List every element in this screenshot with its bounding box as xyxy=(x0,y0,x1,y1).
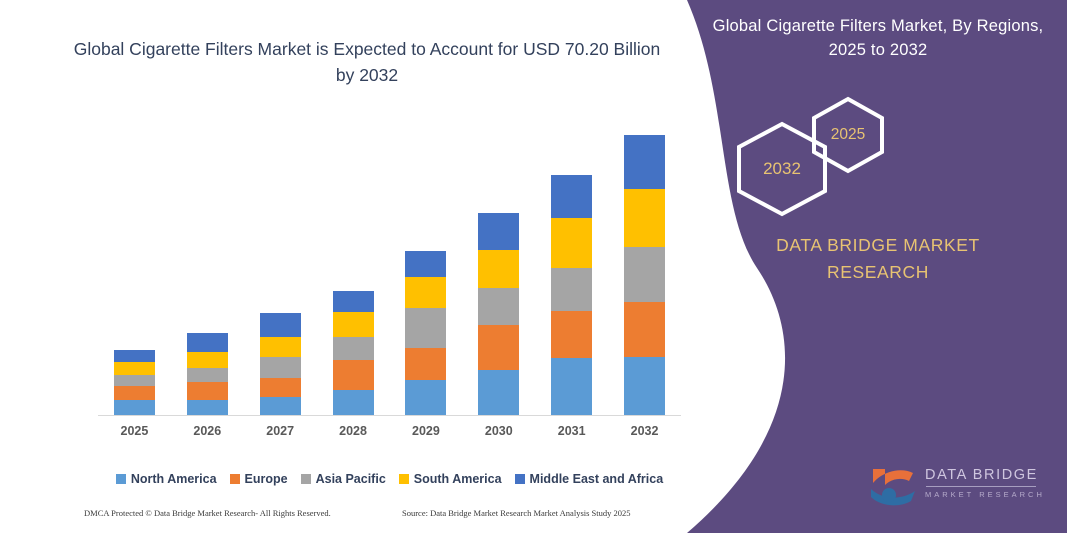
bar-segment xyxy=(405,251,446,277)
footer-source: Source: Data Bridge Market Research Mark… xyxy=(402,508,631,518)
stacked-bar xyxy=(260,313,301,415)
bridge-logo-icon xyxy=(867,465,921,509)
bar-segment xyxy=(187,400,228,415)
bar-segment xyxy=(333,390,374,415)
panel-title: Global Cigarette Filters Market, By Regi… xyxy=(707,14,1049,62)
bar-segment xyxy=(478,325,519,370)
bar-segment xyxy=(551,311,592,358)
logo-name-top: DATA BRIDGE xyxy=(925,467,1045,483)
stacked-bar xyxy=(478,213,519,415)
legend-item: Middle East and Africa xyxy=(515,472,664,486)
bar-segment xyxy=(260,313,301,337)
bar-segment xyxy=(478,250,519,288)
bar-segment xyxy=(551,218,592,268)
legend-label: Europe xyxy=(245,472,288,486)
hexagon-2032-label: 2032 xyxy=(763,159,801,179)
bar-group-2032 xyxy=(608,120,681,415)
brand-line-1: DATA BRIDGE MARKET xyxy=(707,232,1049,259)
bar-segment xyxy=(551,268,592,311)
bar-group-2030 xyxy=(462,120,535,415)
bar-segment xyxy=(624,302,665,357)
legend-item: Asia Pacific xyxy=(301,472,386,486)
bar-segment xyxy=(333,360,374,390)
bar-segment xyxy=(478,370,519,415)
bar-segment xyxy=(187,333,228,352)
bar-segment xyxy=(114,375,155,386)
x-axis-line xyxy=(98,415,681,416)
bar-group-2028 xyxy=(317,120,390,415)
bar-group-2025 xyxy=(98,120,171,415)
bar-segment xyxy=(260,378,301,397)
legend-swatch-icon xyxy=(230,474,240,484)
x-axis-tick-2025: 2025 xyxy=(98,424,171,438)
bar-segment xyxy=(405,380,446,415)
stacked-bar xyxy=(187,333,228,415)
legend-swatch-icon xyxy=(116,474,126,484)
bar-chart-plot xyxy=(98,120,681,415)
logo-divider xyxy=(926,486,1036,487)
x-axis-tick-2026: 2026 xyxy=(171,424,244,438)
logo-name-bottom: MARKET RESEARCH xyxy=(925,490,1045,499)
x-axis-tick-2028: 2028 xyxy=(317,424,390,438)
bar-segment xyxy=(333,337,374,360)
bar-segment xyxy=(187,352,228,368)
bar-segment xyxy=(405,308,446,348)
legend-label: North America xyxy=(131,472,217,486)
chart-legend: North AmericaEuropeAsia PacificSouth Ame… xyxy=(98,472,681,486)
bar-segment xyxy=(333,312,374,337)
company-logo: DATA BRIDGE MARKET RESEARCH xyxy=(867,465,1045,511)
bar-group-2029 xyxy=(390,120,463,415)
x-axis-tick-2027: 2027 xyxy=(244,424,317,438)
legend-label: South America xyxy=(414,472,502,486)
page-title: Global Cigarette Filters Market is Expec… xyxy=(72,36,662,88)
bar-segment xyxy=(187,382,228,400)
legend-item: Europe xyxy=(230,472,288,486)
infographic-canvas: Global Cigarette Filters Market is Expec… xyxy=(0,0,1067,533)
bar-segment xyxy=(624,247,665,302)
bar-segment xyxy=(187,368,228,382)
legend-item: South America xyxy=(399,472,502,486)
x-axis-tick-2032: 2032 xyxy=(608,424,681,438)
bar-segment xyxy=(260,337,301,357)
legend-item: North America xyxy=(116,472,217,486)
bar-segment xyxy=(551,175,592,217)
legend-label: Middle East and Africa xyxy=(530,472,664,486)
legend-swatch-icon xyxy=(515,474,525,484)
bar-segment xyxy=(114,350,155,362)
bar-segment xyxy=(114,362,155,375)
x-axis-tick-2029: 2029 xyxy=(390,424,463,438)
bar-segment xyxy=(333,291,374,312)
hexagon-2025-label: 2025 xyxy=(831,126,865,144)
hexagon-group: 2032 2025 xyxy=(707,96,1049,216)
bar-segment xyxy=(624,189,665,247)
stacked-bar xyxy=(114,350,155,415)
legend-swatch-icon xyxy=(301,474,311,484)
brand-line-2: RESEARCH xyxy=(707,259,1049,286)
hexagon-2025: 2025 xyxy=(809,96,887,174)
stacked-bar xyxy=(624,135,665,415)
bar-segment xyxy=(114,400,155,415)
bar-group-2026 xyxy=(171,120,244,415)
bar-segment xyxy=(478,213,519,249)
legend-label: Asia Pacific xyxy=(316,472,386,486)
bar-segment xyxy=(405,277,446,307)
x-axis-tick-2031: 2031 xyxy=(535,424,608,438)
bar-segment xyxy=(405,348,446,380)
x-axis-labels: 20252026202720282029203020312032 xyxy=(98,424,681,438)
x-axis-tick-2030: 2030 xyxy=(462,424,535,438)
bar-segment xyxy=(478,288,519,325)
footer-copyright: DMCA Protected © Data Bridge Market Rese… xyxy=(84,508,331,518)
stacked-bar xyxy=(551,175,592,415)
bar-segment xyxy=(624,357,665,415)
logo-wordmark: DATA BRIDGE MARKET RESEARCH xyxy=(925,467,1045,499)
legend-swatch-icon xyxy=(399,474,409,484)
brand-name: DATA BRIDGE MARKET RESEARCH xyxy=(707,232,1049,286)
bar-segment xyxy=(260,397,301,415)
bar-segment xyxy=(114,386,155,400)
bar-group-2027 xyxy=(244,120,317,415)
bar-segment xyxy=(260,357,301,378)
bar-segment xyxy=(551,358,592,415)
brand-panel: Global Cigarette Filters Market, By Regi… xyxy=(687,0,1067,533)
stacked-bar xyxy=(405,251,446,415)
stacked-bar xyxy=(333,291,374,415)
bar-segment xyxy=(624,135,665,188)
bar-group-2031 xyxy=(535,120,608,415)
footer: DMCA Protected © Data Bridge Market Rese… xyxy=(0,508,700,528)
